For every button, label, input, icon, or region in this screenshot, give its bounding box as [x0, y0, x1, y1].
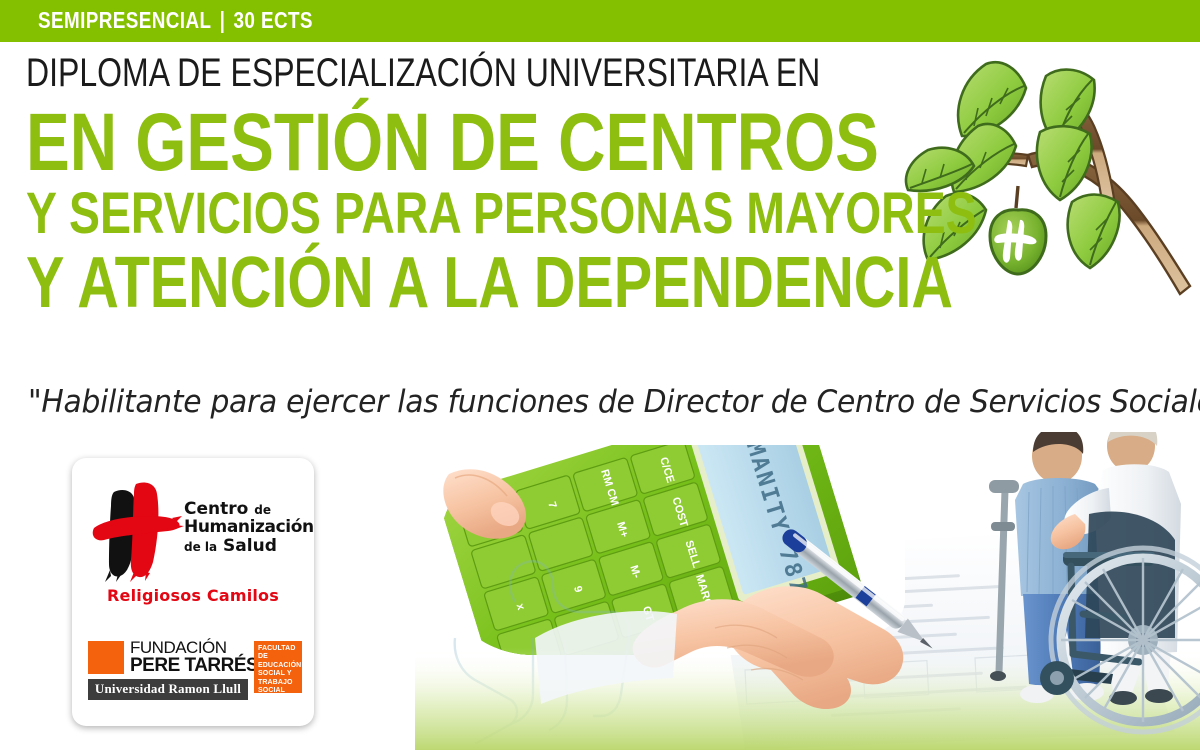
chs-line-2: Humanización	[184, 518, 314, 536]
pt-line-2: PERE TARRÉS	[130, 657, 258, 675]
credits-label: 30 ECTS	[234, 7, 313, 33]
photo-collage: HUMANITY 787	[415, 432, 1200, 750]
leaf-4	[1037, 126, 1092, 200]
partner-logos-panel: Centro de Humanización de la Salud Relig…	[72, 458, 314, 726]
chs-wordmark: Centro de Humanización de la Salud	[184, 500, 314, 555]
chs-centro: Centro	[184, 499, 248, 519]
camilos-cross-logo-mark	[88, 478, 184, 582]
chs-de: de	[254, 503, 271, 517]
kicker-text: DIPLOMA DE ESPECIALIZACIÓN UNIVERSITARIA…	[26, 52, 834, 94]
chs-salud: Salud	[223, 536, 277, 556]
modality-label: SEMIPRESENCIAL	[38, 7, 211, 33]
chs-line-3: de la Salud	[184, 537, 314, 555]
headline-block: DIPLOMA DE ESPECIALIZACIÓN UNIVERSITARIA…	[26, 52, 1036, 318]
chs-line-1: Centro de	[184, 500, 314, 518]
faculty-badge: FACULTAD DE EDUCACIÓN SOCIAL Y TRABAJO S…	[254, 641, 302, 693]
chs-tagline: Religiosos Camilos	[72, 586, 314, 605]
promotional-banner: HUMANITY 787	[0, 0, 1200, 750]
top-info-bar: SEMIPRESENCIAL|30 ECTS	[0, 0, 1200, 42]
title-line-3: Y ATENCIÓN A LA DEPENDENCIA	[26, 248, 834, 318]
chs-de-la: de la	[184, 540, 217, 554]
pere-tarres-wordmark: FUNDACIÓN PERE TARRÉS	[130, 639, 258, 675]
chs-logo: Centro de Humanización de la Salud	[72, 476, 314, 596]
bar-separator: |	[211, 7, 233, 34]
pere-tarres-logo: FUNDACIÓN PERE TARRÉS Universidad Ramon …	[88, 641, 302, 707]
title-line-1: EN GESTIÓN DE CENTROS	[26, 104, 834, 182]
top-bar-content: SEMIPRESENCIAL|30 ECTS	[38, 7, 313, 34]
leaf-7	[1068, 195, 1120, 269]
title-line-2: Y SERVICIOS PARA PERSONAS MAYORES	[26, 186, 834, 242]
program-quote: "Habilitante para ejercer las funciones …	[28, 384, 1200, 420]
collage-artwork: HUMANITY 787	[415, 432, 1200, 750]
pere-tarres-orange-square	[88, 641, 124, 674]
brush-cross-icon	[88, 478, 184, 582]
university-bar: Universidad Ramon Llull	[88, 679, 248, 700]
